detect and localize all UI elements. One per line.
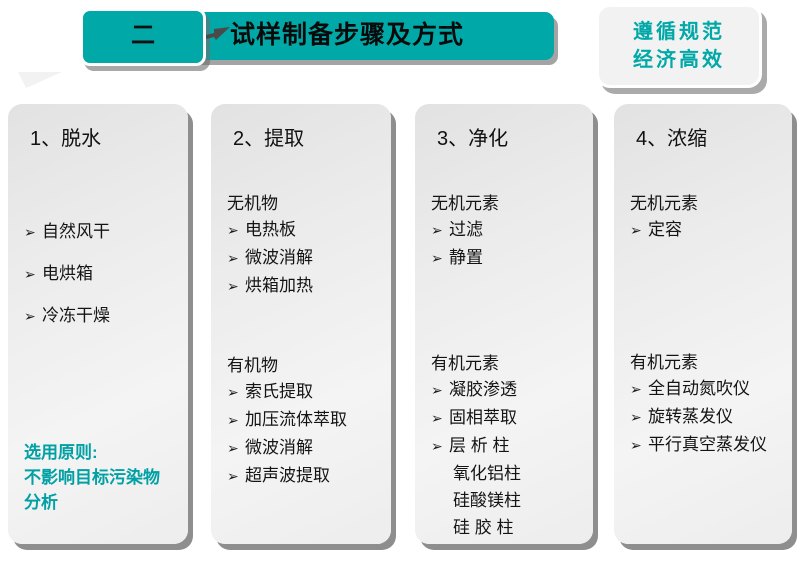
arrow-bullet-icon: ➢ [630, 404, 648, 431]
step-group-organic: 有机元素 ➢ 凝胶渗透 ➢ 固相萃取 ➢ 层 析 柱 氧化铝柱 硅酸镁柱 硅 胶… [431, 352, 583, 541]
arrow-bullet-icon: ➢ [227, 245, 245, 272]
arrow-bullet-icon: ➢ [431, 245, 449, 272]
list-item[interactable]: ➢ 电烘箱 [24, 260, 178, 288]
list-item[interactable]: ➢ 定容 [630, 216, 782, 244]
spacer [24, 246, 178, 260]
step-group-organic: 有机元素 ➢ 全自动氮吹仪 ➢ 旋转蒸发仪 ➢ 平行真空蒸发仪 [630, 351, 782, 459]
list-item-label: 电热板 [245, 216, 296, 243]
step-item-list: ➢ 电热板 ➢ 微波消解 ➢ 烘箱加热 [227, 216, 381, 300]
section-number-label: 二 [83, 11, 203, 63]
list-item-label: 超声波提取 [245, 462, 330, 489]
step-card-title: 1、脱水 [30, 126, 178, 152]
list-item-label: 静置 [449, 244, 483, 271]
step-group-organic: 有机物 ➢ 索氏提取 ➢ 加压流体萃取 ➢ 微波消解 ➢ 超声波提取 [227, 354, 381, 490]
step-card-title: 4、浓缩 [636, 126, 782, 152]
spacer [24, 288, 178, 302]
list-item-label: 冷冻干燥 [42, 302, 110, 329]
list-item[interactable]: ➢ 静置 [431, 244, 583, 272]
arrow-bullet-icon: ➢ [431, 377, 449, 404]
step-item-list: ➢ 凝胶渗透 ➢ 固相萃取 ➢ 层 析 柱 [431, 376, 583, 460]
list-item-label: 索氏提取 [245, 378, 313, 405]
step-card-extraction[interactable]: 2、提取 无机物 ➢ 电热板 ➢ 微波消解 ➢ 烘箱加热 有机物 [211, 104, 391, 544]
list-item[interactable]: ➢ 固相萃取 [431, 404, 583, 432]
arrow-bullet-icon: ➢ [24, 261, 42, 288]
arrow-bullet-icon: ➢ [24, 303, 42, 330]
list-item[interactable]: ➢ 微波消解 [227, 434, 381, 462]
group-label: 有机物 [227, 354, 381, 377]
list-item[interactable]: ➢ 冷冻干燥 [24, 302, 178, 330]
list-item-label: 微波消解 [245, 434, 313, 461]
arrow-bullet-icon: ➢ [431, 217, 449, 244]
step-group-inorganic: 无机元素 ➢ 定容 [630, 192, 782, 244]
step-card-concentration[interactable]: 4、浓缩 无机元素 ➢ 定容 有机元素 ➢ 全自动氮吹仪 ➢ 旋转蒸发仪 [614, 104, 792, 544]
arrow-bullet-icon: ➢ [227, 435, 245, 462]
page-title: 试样制备步骤及方式 [230, 12, 464, 60]
list-item[interactable]: ➢ 烘箱加热 [227, 272, 381, 300]
step-card-cleanup[interactable]: 3、净化 无机元素 ➢ 过滤 ➢ 静置 有机元素 ➢ 凝胶渗透 [415, 104, 593, 544]
list-item[interactable]: ➢ 过滤 [431, 216, 583, 244]
group-label: 有机元素 [630, 351, 782, 374]
step-item-list: ➢ 索氏提取 ➢ 加压流体萃取 ➢ 微波消解 ➢ 超声波提取 [227, 378, 381, 490]
arrow-bullet-icon: ➢ [227, 463, 245, 490]
sub-list-item: 氧化铝柱 [431, 460, 583, 487]
note-line-2: 不影响目标污染物分析 [24, 465, 174, 515]
arrow-bullet-icon: ➢ [227, 379, 245, 406]
list-item-label: 全自动氮吹仪 [648, 375, 750, 402]
step-group: ➢ 自然风干 ➢ 电烘箱 ➢ 冷冻干燥 [24, 218, 178, 330]
list-item-label: 旋转蒸发仪 [648, 403, 733, 430]
list-item[interactable]: ➢ 凝胶渗透 [431, 376, 583, 404]
list-item-label: 烘箱加热 [245, 272, 313, 299]
arrow-bullet-icon: ➢ [630, 432, 648, 459]
arrow-bullet-icon: ➢ [431, 433, 449, 460]
list-item[interactable]: ➢ 电热板 [227, 216, 381, 244]
bubble-line-2: 经济高效 [633, 47, 725, 73]
steps-card-row: 1、脱水 ➢ 自然风干 ➢ 电烘箱 ➢ 冷冻干燥 [0, 100, 800, 560]
note-line-1: 选用原则: [24, 440, 174, 465]
group-label: 无机元素 [431, 192, 583, 215]
list-item-label: 层 析 柱 [449, 432, 509, 459]
arrow-bullet-icon: ➢ [630, 376, 648, 403]
step-item-list: ➢ 全自动氮吹仪 ➢ 旋转蒸发仪 ➢ 平行真空蒸发仪 [630, 375, 782, 459]
section-number-badge: 二 [80, 8, 206, 66]
list-item-label: 平行真空蒸发仪 [648, 431, 767, 458]
list-item-label: 电烘箱 [42, 260, 93, 287]
arrow-bullet-icon: ➢ [630, 217, 648, 244]
step-group-inorganic: 无机元素 ➢ 过滤 ➢ 静置 [431, 192, 583, 272]
list-item-label: 微波消解 [245, 244, 313, 271]
list-item[interactable]: ➢ 索氏提取 [227, 378, 381, 406]
step-card-dehydration[interactable]: 1、脱水 ➢ 自然风干 ➢ 电烘箱 ➢ 冷冻干燥 [8, 104, 188, 544]
bubble-line-1: 遵循规范 [633, 19, 725, 45]
list-item-label: 过滤 [449, 216, 483, 243]
step-group-inorganic: 无机物 ➢ 电热板 ➢ 微波消解 ➢ 烘箱加热 [227, 192, 381, 300]
group-label: 无机元素 [630, 192, 782, 215]
list-item[interactable]: ➢ 平行真空蒸发仪 [630, 431, 782, 459]
list-item-label: 固相萃取 [449, 404, 517, 431]
arrow-pointer-icon [206, 27, 232, 45]
selection-principle-note: 选用原则: 不影响目标污染物分析 [24, 440, 174, 515]
list-item-label: 自然风干 [42, 218, 110, 245]
list-item-label: 定容 [648, 216, 682, 243]
step-item-list: ➢ 过滤 ➢ 静置 [431, 216, 583, 272]
step-item-list: ➢ 自然风干 ➢ 电烘箱 ➢ 冷冻干燥 [24, 218, 178, 330]
speech-bubble: 遵循规范 经济高效 [596, 4, 762, 88]
arrow-bullet-icon: ➢ [24, 219, 42, 246]
list-item[interactable]: ➢ 微波消解 [227, 244, 381, 272]
step-item-list: ➢ 定容 [630, 216, 782, 244]
speech-bubble-tail-icon [18, 72, 62, 88]
list-item[interactable]: ➢ 全自动氮吹仪 [630, 375, 782, 403]
sub-list-item: 硅酸镁柱 [431, 487, 583, 514]
list-item[interactable]: ➢ 超声波提取 [227, 462, 381, 490]
list-item-label: 加压流体萃取 [245, 406, 347, 433]
step-card-title: 2、提取 [233, 126, 381, 152]
step-card-title: 3、净化 [437, 126, 583, 152]
slide-header: 试样制备步骤及方式 二 遵循规范 经济高效 [0, 0, 800, 96]
group-label: 有机元素 [431, 352, 583, 375]
list-item[interactable]: ➢ 层 析 柱 [431, 432, 583, 460]
list-item-label: 凝胶渗透 [449, 376, 517, 403]
list-item[interactable]: ➢ 自然风干 [24, 218, 178, 246]
group-label: 无机物 [227, 192, 381, 215]
arrow-bullet-icon: ➢ [227, 407, 245, 434]
arrow-bullet-icon: ➢ [227, 273, 245, 300]
arrow-bullet-icon: ➢ [227, 217, 245, 244]
list-item[interactable]: ➢ 加压流体萃取 [227, 406, 381, 434]
arrow-bullet-icon: ➢ [431, 405, 449, 432]
list-item[interactable]: ➢ 旋转蒸发仪 [630, 403, 782, 431]
sub-list-item: 硅 胶 柱 [431, 514, 583, 541]
